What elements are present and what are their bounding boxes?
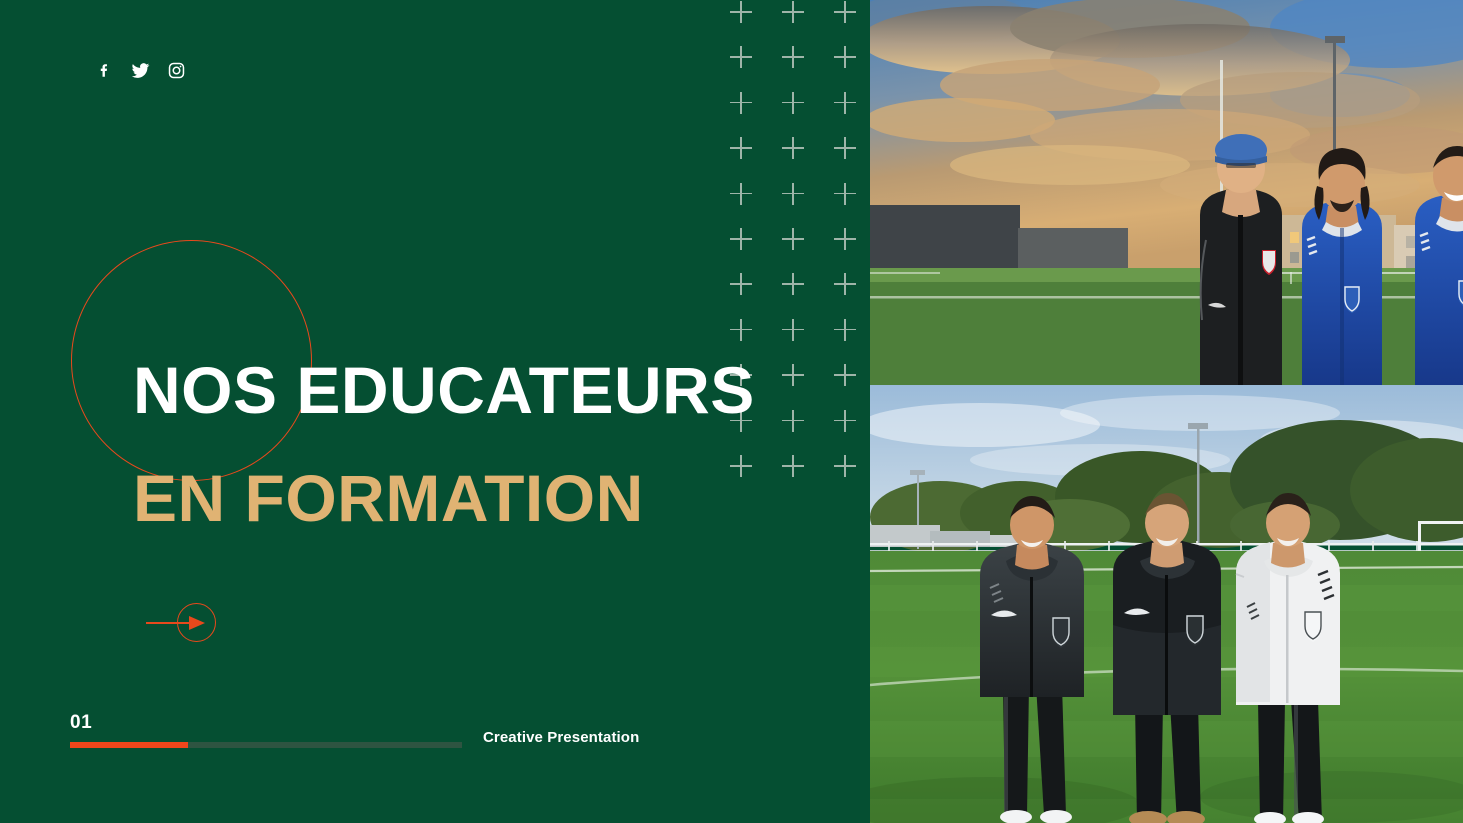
plus-icon [730,1,752,23]
slide-number: 01 [70,712,92,734]
plus-icon [782,137,804,159]
headline-line-2: EN FORMATION [133,444,833,552]
plus-icon [834,273,856,295]
plus-icon [834,92,856,114]
plus-icon [834,455,856,477]
plus-icon [782,273,804,295]
photo-column [870,0,1463,823]
arrow-head [189,616,205,630]
plus-icon [730,273,752,295]
plus-icon [782,92,804,114]
plus-icon [730,46,752,68]
headline-line-1: NOS EDUCATEURS [133,336,833,444]
plus-icon [834,183,856,205]
plus-icon [834,46,856,68]
plus-icon [782,46,804,68]
twitter-icon[interactable] [128,58,152,82]
footer-label: Creative Presentation [483,729,639,746]
page-title: NOS EDUCATEURS EN FORMATION [133,336,833,552]
progress-bar-track[interactable] [70,742,462,748]
plus-icon [834,137,856,159]
arrow-shaft [146,622,192,624]
plus-icon [730,137,752,159]
facebook-icon[interactable] [92,58,116,82]
plus-icon [730,183,752,205]
plus-icon [782,183,804,205]
plus-icon [834,1,856,23]
plus-icon [730,228,752,250]
plus-icon [730,92,752,114]
photo-coaches-sunset [870,0,1463,385]
plus-icon [834,319,856,341]
arrow-right-icon[interactable] [146,603,216,643]
presentation-slide: NOS EDUCATEURS EN FORMATION 01 Creative … [0,0,1463,823]
plus-icon [834,228,856,250]
plus-icon [834,364,856,386]
progress-bar-fill [70,742,188,748]
plus-icon [782,228,804,250]
plus-icon [834,410,856,432]
instagram-icon[interactable] [164,58,188,82]
photo-coaches-pitch [870,385,1463,823]
plus-icon [782,1,804,23]
left-content-panel: NOS EDUCATEURS EN FORMATION 01 Creative … [0,0,870,823]
social-links [92,58,188,82]
